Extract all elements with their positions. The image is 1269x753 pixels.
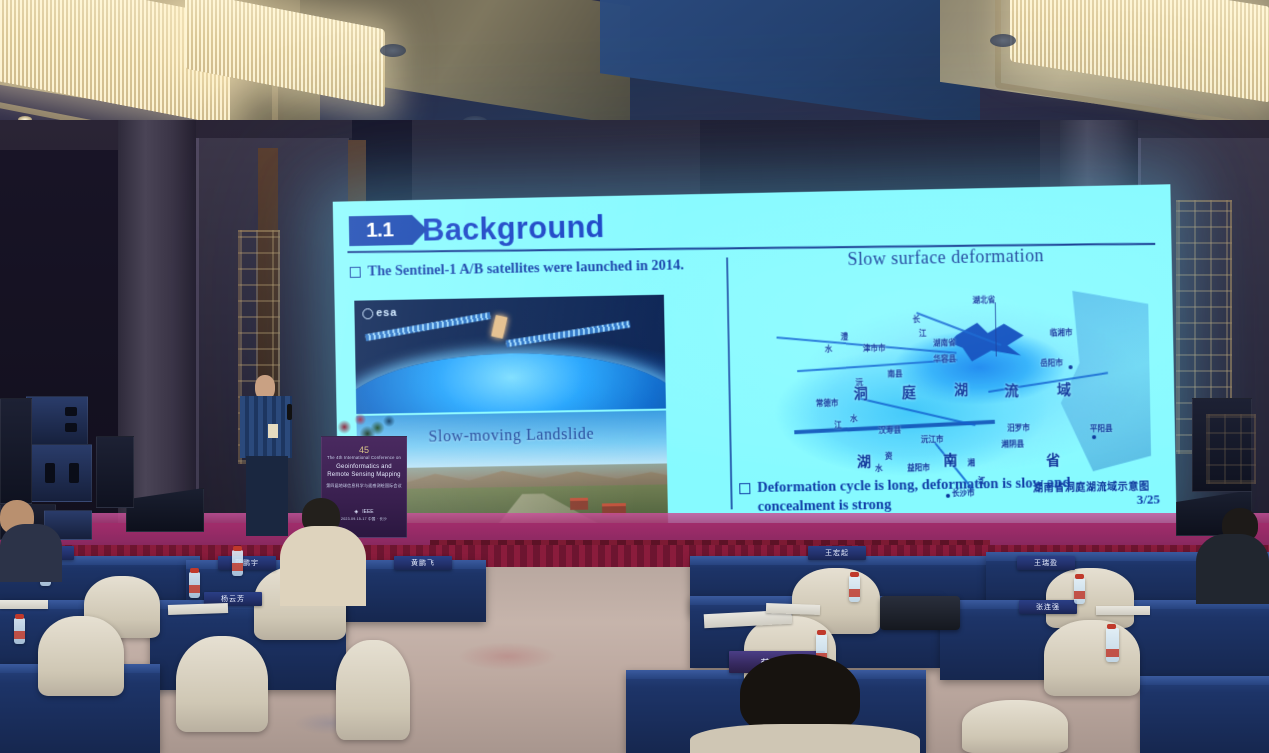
- map-place-label: 江: [834, 419, 842, 430]
- water-bottle: [1074, 578, 1085, 604]
- map-place-label: 平阳县: [1090, 423, 1113, 434]
- document-paper: [766, 603, 820, 615]
- presenter-trousers: [246, 456, 288, 536]
- map-place-label: 南县: [887, 368, 902, 379]
- map-place-label: 华容县: [933, 353, 956, 364]
- audience-chair: [1044, 620, 1140, 696]
- attendee-name-card: 黄鹏飞: [394, 556, 452, 570]
- map-place-label: 津市市: [863, 343, 886, 354]
- speaker-stack: [0, 398, 32, 504]
- laptop-bag: [880, 596, 960, 630]
- map-region-label: 湖: [954, 379, 968, 399]
- line-array-speaker: [26, 396, 88, 446]
- document-paper: [1096, 606, 1150, 615]
- map-region-label: 洞: [854, 383, 868, 403]
- presenter-badge: [268, 424, 278, 438]
- map-region-label: 省: [1046, 450, 1060, 470]
- map-place-label: 湖南省: [933, 337, 956, 348]
- map-place-label: 水: [825, 344, 833, 355]
- audience-chair: [962, 700, 1068, 753]
- bullet-item-1: The Sentinel-1 A/B satellites were launc…: [350, 256, 708, 282]
- building: [570, 498, 588, 510]
- satellite-body: [491, 315, 507, 339]
- equipment-rack: [96, 436, 134, 508]
- bullet-text: The Sentinel-1 A/B satellites were launc…: [367, 256, 684, 281]
- map-place-label: 汨罗市: [1007, 422, 1030, 433]
- esa-mark-icon: [362, 308, 373, 319]
- map-place-label: 水: [875, 463, 883, 474]
- bullet-text: Deformation cycle is long, deformation i…: [757, 474, 1081, 518]
- ceiling-panel-blue: [600, 0, 980, 127]
- document-paper: [0, 600, 48, 609]
- conference-line-cn: 第四届地球信息科学与遥感测绘国际会议: [322, 483, 406, 489]
- map-place-label: 长: [912, 314, 920, 325]
- handheld-microphone: [287, 404, 292, 420]
- city-marker: [1092, 435, 1096, 439]
- earth-limb: [354, 350, 666, 414]
- slide-title: Background: [422, 211, 605, 246]
- map-place-label: 澧: [841, 331, 849, 342]
- map-place-label: 沅江市: [921, 434, 944, 445]
- ieee-label: IEEE: [362, 509, 373, 515]
- anniversary-logo: 45: [322, 445, 406, 455]
- map-region-label: 域: [1057, 379, 1071, 399]
- slide-page-number: 3/25: [1136, 491, 1160, 507]
- audience-chair: [38, 616, 124, 696]
- presentation-slide: 1.1 Background The Sentinel-1 A/B satell…: [333, 184, 1177, 537]
- water-bottle: [849, 576, 860, 602]
- conference-room-photo: 1.1 Background The Sentinel-1 A/B satell…: [0, 0, 1269, 753]
- water-bottle: [1106, 628, 1119, 662]
- section-number-badge: 1.1: [349, 215, 413, 246]
- esa-logo: esa: [362, 307, 397, 320]
- map-region-label: 流: [1004, 380, 1018, 400]
- map-region-label: 湖: [857, 451, 871, 471]
- bullet-checkbox-icon: [350, 267, 361, 278]
- attendee-name-card: 郭鹏宇: [218, 556, 276, 570]
- cable-rack: [1206, 414, 1256, 484]
- map-place-label: 湘: [967, 457, 975, 468]
- map-place-label: 资: [885, 451, 893, 462]
- panel-divider: [726, 257, 733, 509]
- water-bottle: [14, 618, 25, 644]
- map-place-label: 汉寿县: [878, 424, 901, 435]
- map-place-label: 临湘市: [1050, 327, 1073, 338]
- attendee-name-card: 王瑞盈: [1017, 556, 1075, 570]
- map-place-label: 岳阳市: [1040, 357, 1063, 368]
- audience-table: [1140, 676, 1269, 753]
- subwoofer: [26, 444, 92, 502]
- dongting-lake-basin-map: 湖北省长江湖南省临湘市华容县澧水津市市南县岳阳市常德市沅江水汉寿县沅江市汨罗市湘…: [735, 267, 1160, 505]
- audience-chair: [336, 640, 410, 740]
- audience-chair: [1046, 568, 1134, 628]
- ceiling-vent: [380, 44, 406, 57]
- bullet-item-2: Deformation cycle is long, deformation i…: [739, 474, 1081, 518]
- led-presentation-screen: 1.1 Background The Sentinel-1 A/B satell…: [333, 184, 1177, 537]
- attendee-name-card: 张连强: [1019, 600, 1077, 614]
- bullet-checkbox-icon: [739, 483, 750, 494]
- solar-panel: [506, 321, 631, 348]
- city-marker: [1069, 365, 1073, 369]
- esa-label: esa: [376, 307, 397, 319]
- map-place-label: 水: [850, 413, 858, 424]
- map-place-label: 常德市: [816, 397, 839, 408]
- presenter-shirt: [240, 396, 292, 458]
- map-place-label: 湘阴县: [1001, 438, 1024, 449]
- conference-line-3: Remote Sensing Mapping: [322, 471, 406, 480]
- audience-chair: [176, 636, 268, 732]
- ieee-mark-icon: ◈: [354, 509, 358, 515]
- conference-line-1: The 4th International Conference on: [322, 455, 406, 461]
- map-place-label: 湖北省: [972, 294, 995, 305]
- water-bottle: [232, 550, 243, 576]
- map-place-label: 益阳市: [907, 462, 930, 473]
- map-region-label: 南: [943, 450, 957, 470]
- attendee-name-card: 王宏起: [808, 546, 866, 560]
- map-place-label: 江: [919, 328, 927, 339]
- document-paper: [168, 603, 228, 615]
- map-region-label: 庭: [902, 382, 916, 402]
- ceiling-vent: [990, 34, 1016, 47]
- sentinel-satellite-photo: esa: [354, 295, 666, 414]
- water-bottle: [189, 572, 200, 598]
